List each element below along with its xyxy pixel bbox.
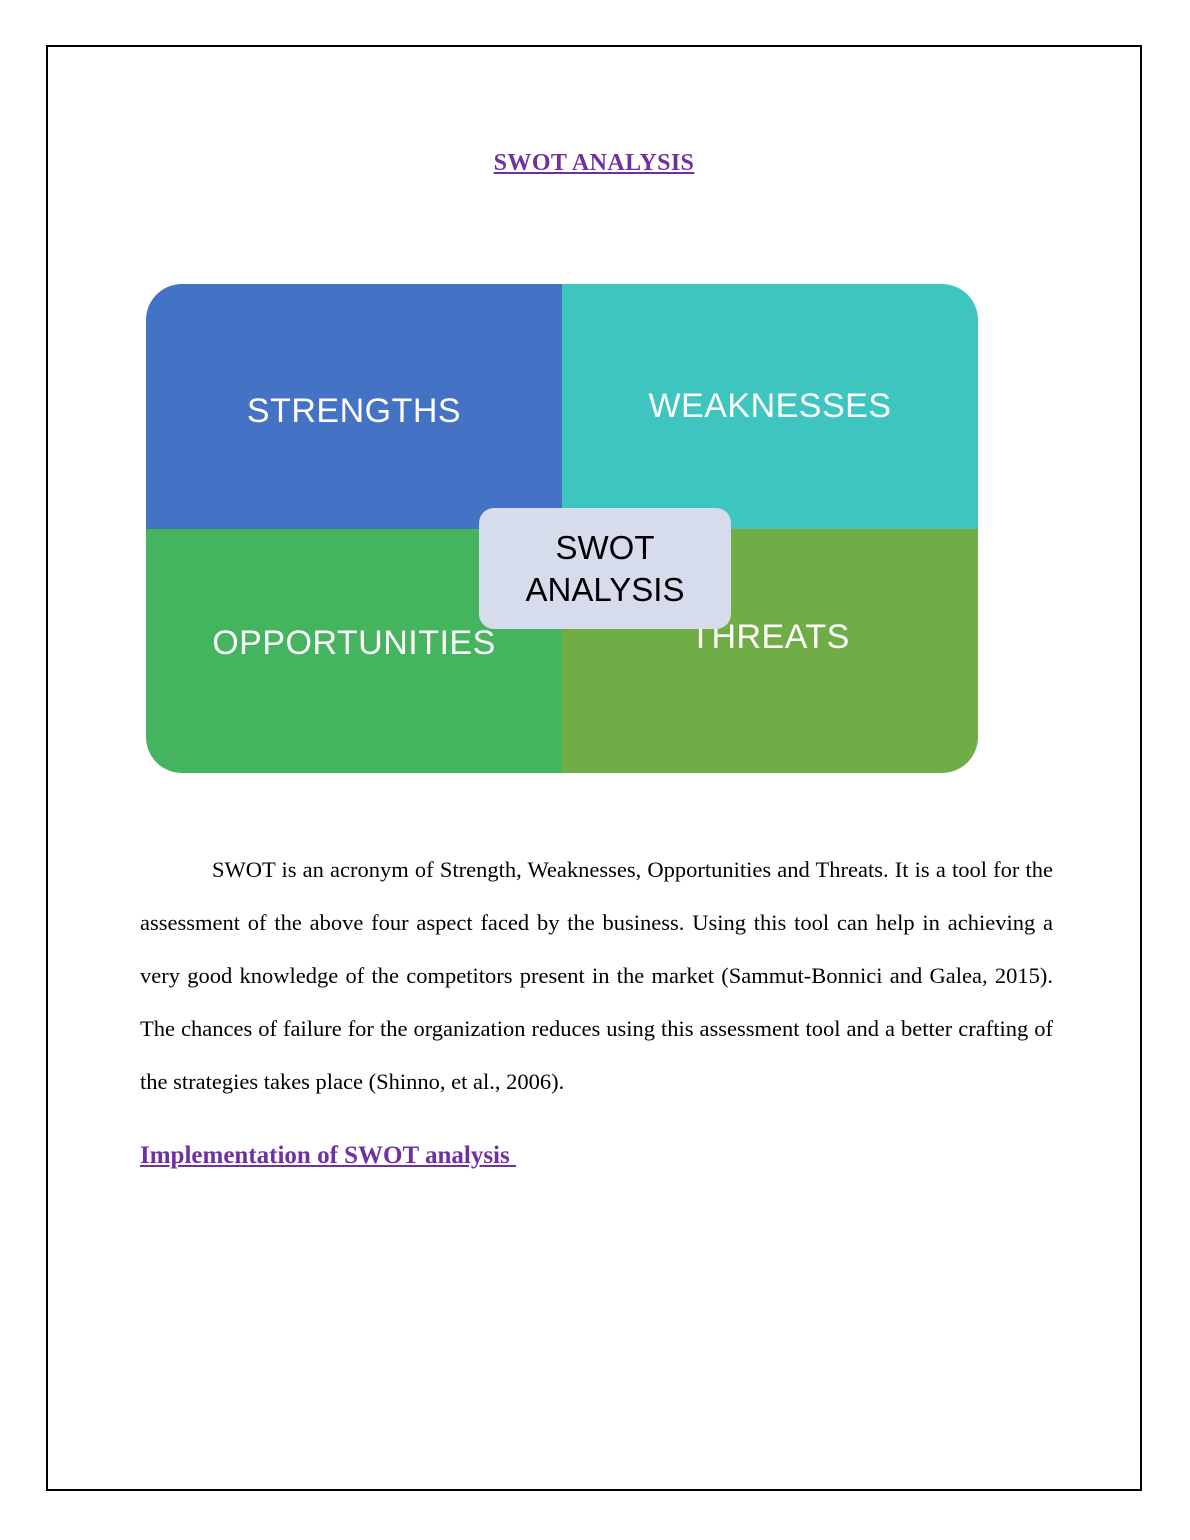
swot-center-label-line2: ANALYSIS bbox=[526, 569, 685, 611]
section-heading-implementation: Implementation of SWOT analysis bbox=[140, 1142, 516, 1170]
swot-matrix-diagram: STRENGTHS WEAKNESSES OPPORTUNITIES THREA… bbox=[146, 284, 978, 773]
swot-quadrant-weaknesses-label: WEAKNESSES bbox=[562, 387, 978, 426]
swot-center-badge: SWOT ANALYSIS bbox=[479, 508, 731, 629]
swot-quadrant-weaknesses: WEAKNESSES bbox=[562, 284, 978, 529]
page-content: SWOT ANALYSIS STRENGTHS WEAKNESSES OPPOR… bbox=[46, 45, 1142, 1491]
swot-quadrant-opportunities-label: OPPORTUNITIES bbox=[146, 624, 562, 663]
page-title: SWOT ANALYSIS bbox=[46, 150, 1142, 177]
swot-quadrant-strengths-label: STRENGTHS bbox=[146, 392, 562, 431]
swot-center-label-line1: SWOT bbox=[556, 527, 655, 569]
swot-quadrant-strengths: STRENGTHS bbox=[146, 284, 562, 529]
body-paragraph: SWOT is an acronym of Strength, Weakness… bbox=[140, 843, 1053, 1108]
